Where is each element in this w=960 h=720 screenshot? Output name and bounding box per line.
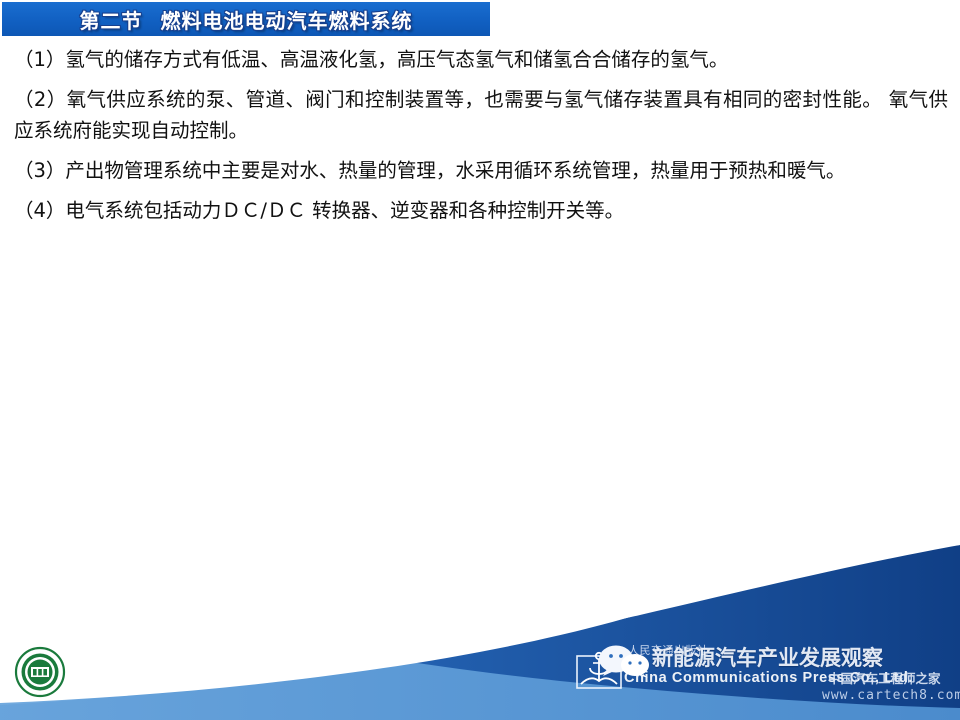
paragraph-2: （2）氧气供应系统的泵、管道、阀门和控制装置等，也需要与氢气储存装置具有相同的密… [14, 84, 948, 146]
publisher-name-cn: 人民交通出版社 [628, 642, 709, 658]
open-book-anchor-icon [576, 646, 622, 690]
circular-seal-icon [14, 646, 66, 698]
page-title: 第二节 燃料电池电动汽车燃料系统 [2, 2, 490, 36]
paragraph-1: （1）氢气的储存方式有低温、高温液化氢，高压气态氢气和储氢合合储存的氢气。 [14, 44, 948, 75]
publisher-name-en: China Communications Press Co., Ltd. [624, 670, 913, 686]
paragraph-4: （4）电气系统包括动力ＤＣ/ＤＣ 转换器、逆变器和各种控制开关等。 [14, 195, 948, 226]
seal-logo [14, 646, 66, 698]
content-body: （1）氢气的储存方式有低温、高温液化氢，高压气态氢气和储氢合合储存的氢气。 （2… [14, 44, 948, 235]
publisher-emblem [576, 646, 622, 690]
section-title: 燃料电池电动汽车燃料系统 [161, 5, 413, 34]
publisher-mark: 人民交通出版社 China Communications Press Co., … [576, 640, 946, 702]
slide-canvas: 第二节 燃料电池电动汽车燃料系统 （1）氢气的储存方式有低温、高温液化氢，高压气… [0, 0, 960, 720]
section-label: 第二节 [80, 5, 143, 34]
paragraph-3: （3）产出物管理系统中主要是对水、热量的管理，水采用循环系统管理，热量用于预热和… [14, 155, 948, 186]
